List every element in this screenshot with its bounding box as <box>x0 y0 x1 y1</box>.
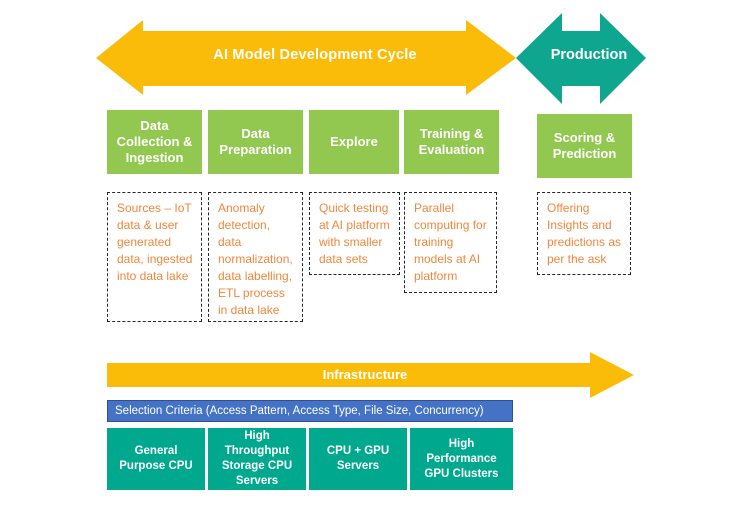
description-box-data-collection-ingestion: Sources – IoT data & user generated data… <box>107 192 202 322</box>
phase-box-data-collection-ingestion[interactable]: Data Collection & Ingestion <box>107 110 202 174</box>
infrastructure-label: Infrastructure <box>120 367 610 382</box>
hardware-box-high-performance-gpu-clusters[interactable]: High Performance GPU Clusters <box>410 428 513 490</box>
hardware-box-cpu-gpu-servers[interactable]: CPU + GPU Servers <box>309 428 407 490</box>
production-label: Production <box>530 47 648 63</box>
phase-box-training-evaluation[interactable]: Training & Evaluation <box>404 110 499 174</box>
ai-model-development-cycle-label: AI Model Development Cycle <box>130 47 500 63</box>
hardware-box-general-purpose-cpu[interactable]: General Purpose CPU <box>107 428 205 490</box>
description-box-explore: Quick testing at AI platform with smalle… <box>309 192 400 275</box>
description-box-data-preparation: Anomaly detection, data normalization, d… <box>208 192 303 322</box>
diagram-canvas: AI Model Development Cycle Production In… <box>0 0 750 511</box>
hardware-box-high-throughput-storage-cpu-servers[interactable]: High Throughput Storage CPU Servers <box>208 428 306 490</box>
phase-box-scoring-prediction[interactable]: Scoring & Prediction <box>537 114 632 178</box>
phase-box-explore[interactable]: Explore <box>309 110 399 174</box>
description-box-scoring-prediction: Offering Insights and predictions as per… <box>537 192 631 275</box>
description-box-training-evaluation: Parallel computing for training models a… <box>404 192 497 293</box>
phase-box-data-preparation[interactable]: Data Preparation <box>208 110 303 174</box>
selection-criteria-bar[interactable]: Selection Criteria (Access Pattern, Acce… <box>107 400 513 422</box>
